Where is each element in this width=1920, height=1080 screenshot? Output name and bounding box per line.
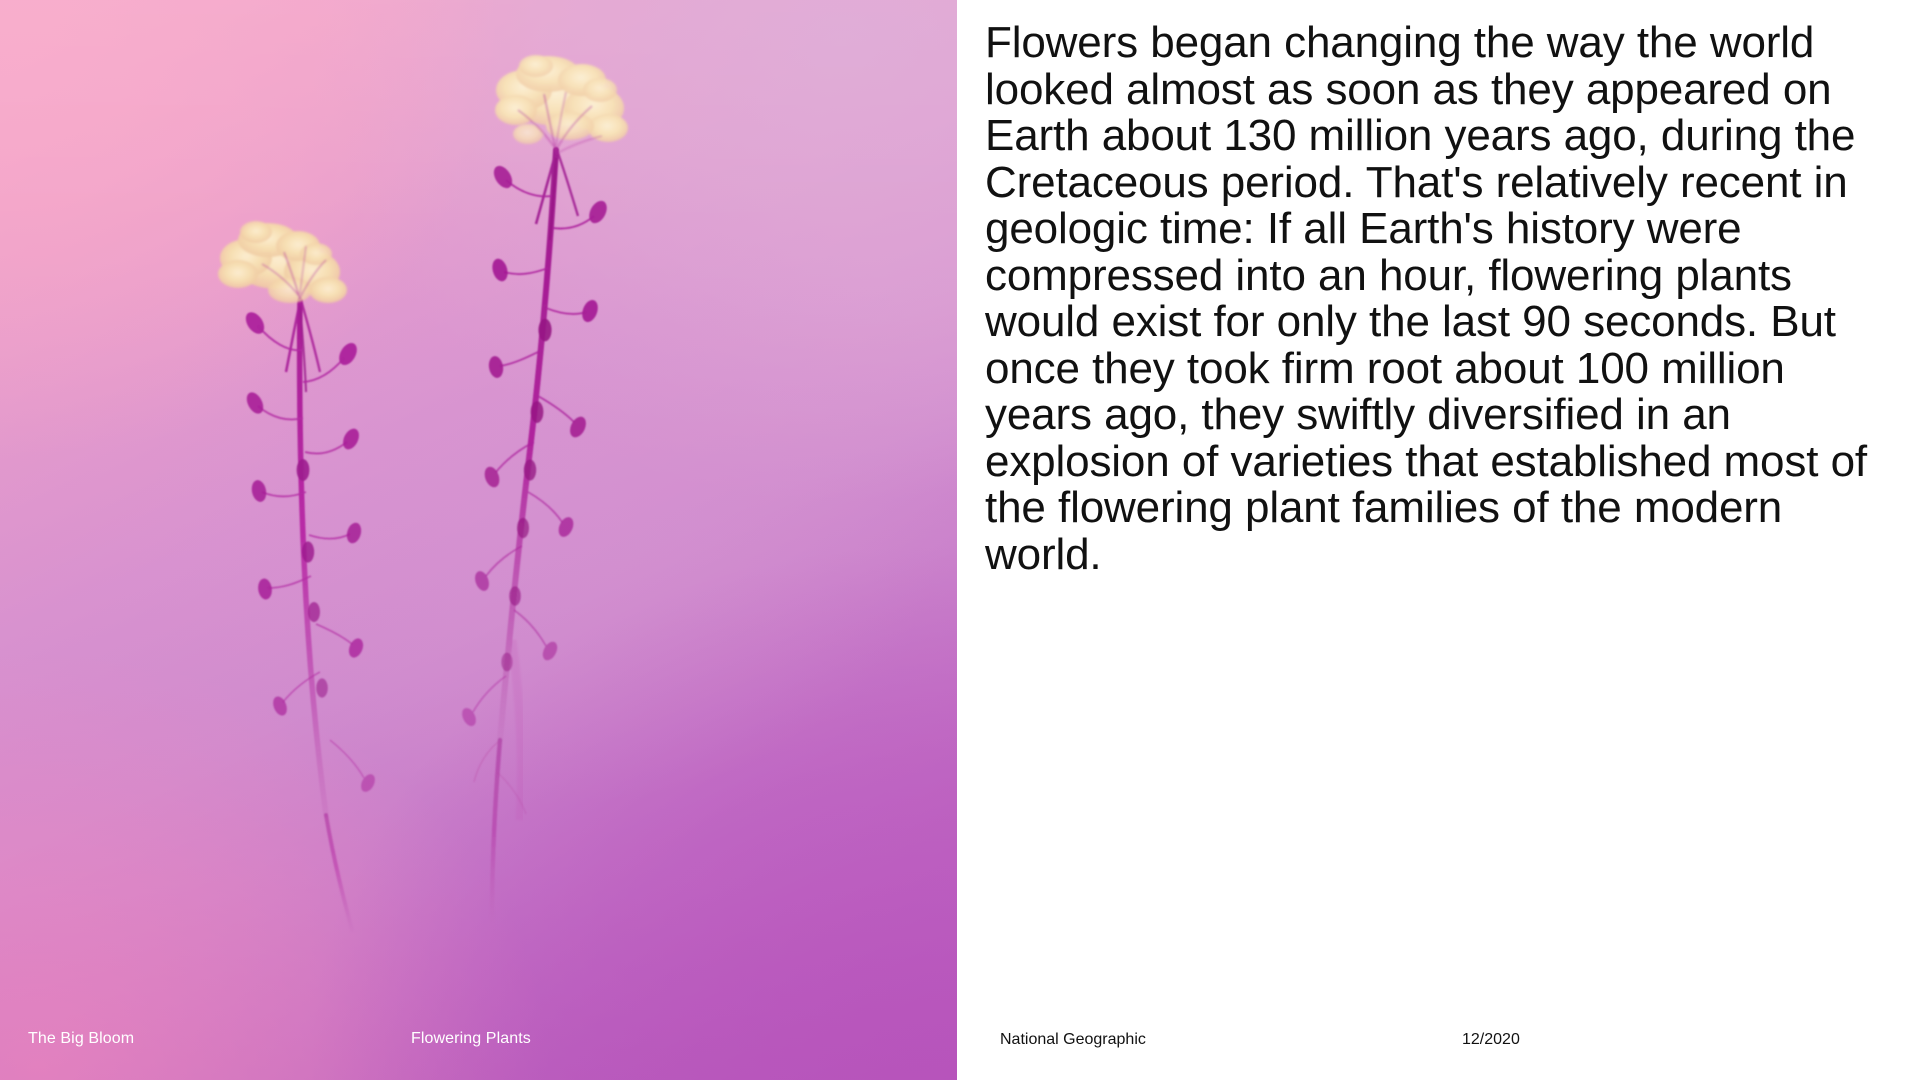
photo-panel: The Big Bloom Flowering Plants xyxy=(0,0,957,1080)
magazine-spread: The Big Bloom Flowering Plants Flowers b… xyxy=(0,0,1920,1080)
caption-subject: Flowering Plants xyxy=(411,1030,531,1048)
caption-title: The Big Bloom xyxy=(28,1030,134,1048)
source-publication: National Geographic xyxy=(1000,1031,1146,1049)
source-footer-bar: National Geographic 12/2020 xyxy=(957,1016,1920,1080)
text-panel: Flowers began changing the way the world… xyxy=(957,0,1920,1080)
article-body-text: Flowers began changing the way the world… xyxy=(985,20,1887,578)
source-issue-date: 12/2020 xyxy=(1462,1031,1520,1049)
photo-vignette xyxy=(0,0,957,1080)
photo-caption-bar: The Big Bloom Flowering Plants xyxy=(0,1016,957,1080)
